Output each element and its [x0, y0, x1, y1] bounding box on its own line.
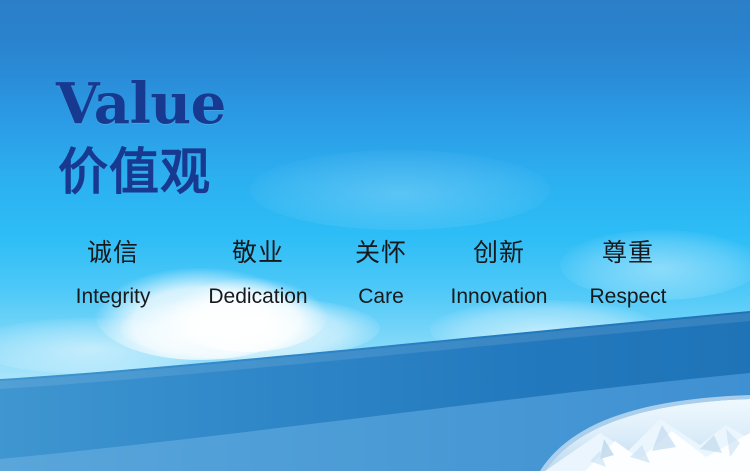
value-label-chinese: 关怀: [355, 240, 407, 265]
value-label-chinese: 创新: [473, 240, 525, 265]
value-label-english: Integrity: [76, 286, 151, 307]
wave-mountain-decoration: [0, 311, 750, 471]
page-title-english: Value: [56, 76, 226, 132]
value-banner: Value 价值观 诚信 Integrity 敬业 Dedication 关怀 …: [0, 0, 750, 471]
value-label-english: Dedication: [208, 286, 307, 307]
value-item-integrity: 诚信 Integrity: [54, 240, 172, 307]
value-label-chinese: 尊重: [602, 240, 654, 265]
value-label-english: Care: [358, 286, 404, 307]
value-item-innovation: 创新 Innovation: [440, 240, 558, 307]
value-label-chinese: 诚信: [87, 240, 139, 265]
value-item-care: 关怀 Care: [344, 240, 418, 307]
value-label-english: Respect: [589, 286, 666, 307]
value-label-chinese: 敬业: [232, 240, 284, 265]
value-item-respect: 尊重 Respect: [580, 240, 676, 307]
page-title-chinese: 价值观: [58, 146, 226, 199]
value-list: 诚信 Integrity 敬业 Dedication 关怀 Care 创新 In…: [54, 240, 676, 307]
value-label-english: Innovation: [451, 286, 548, 307]
value-item-dedication: 敬业 Dedication: [194, 240, 322, 307]
headline-block: Value 价值观: [56, 76, 226, 199]
